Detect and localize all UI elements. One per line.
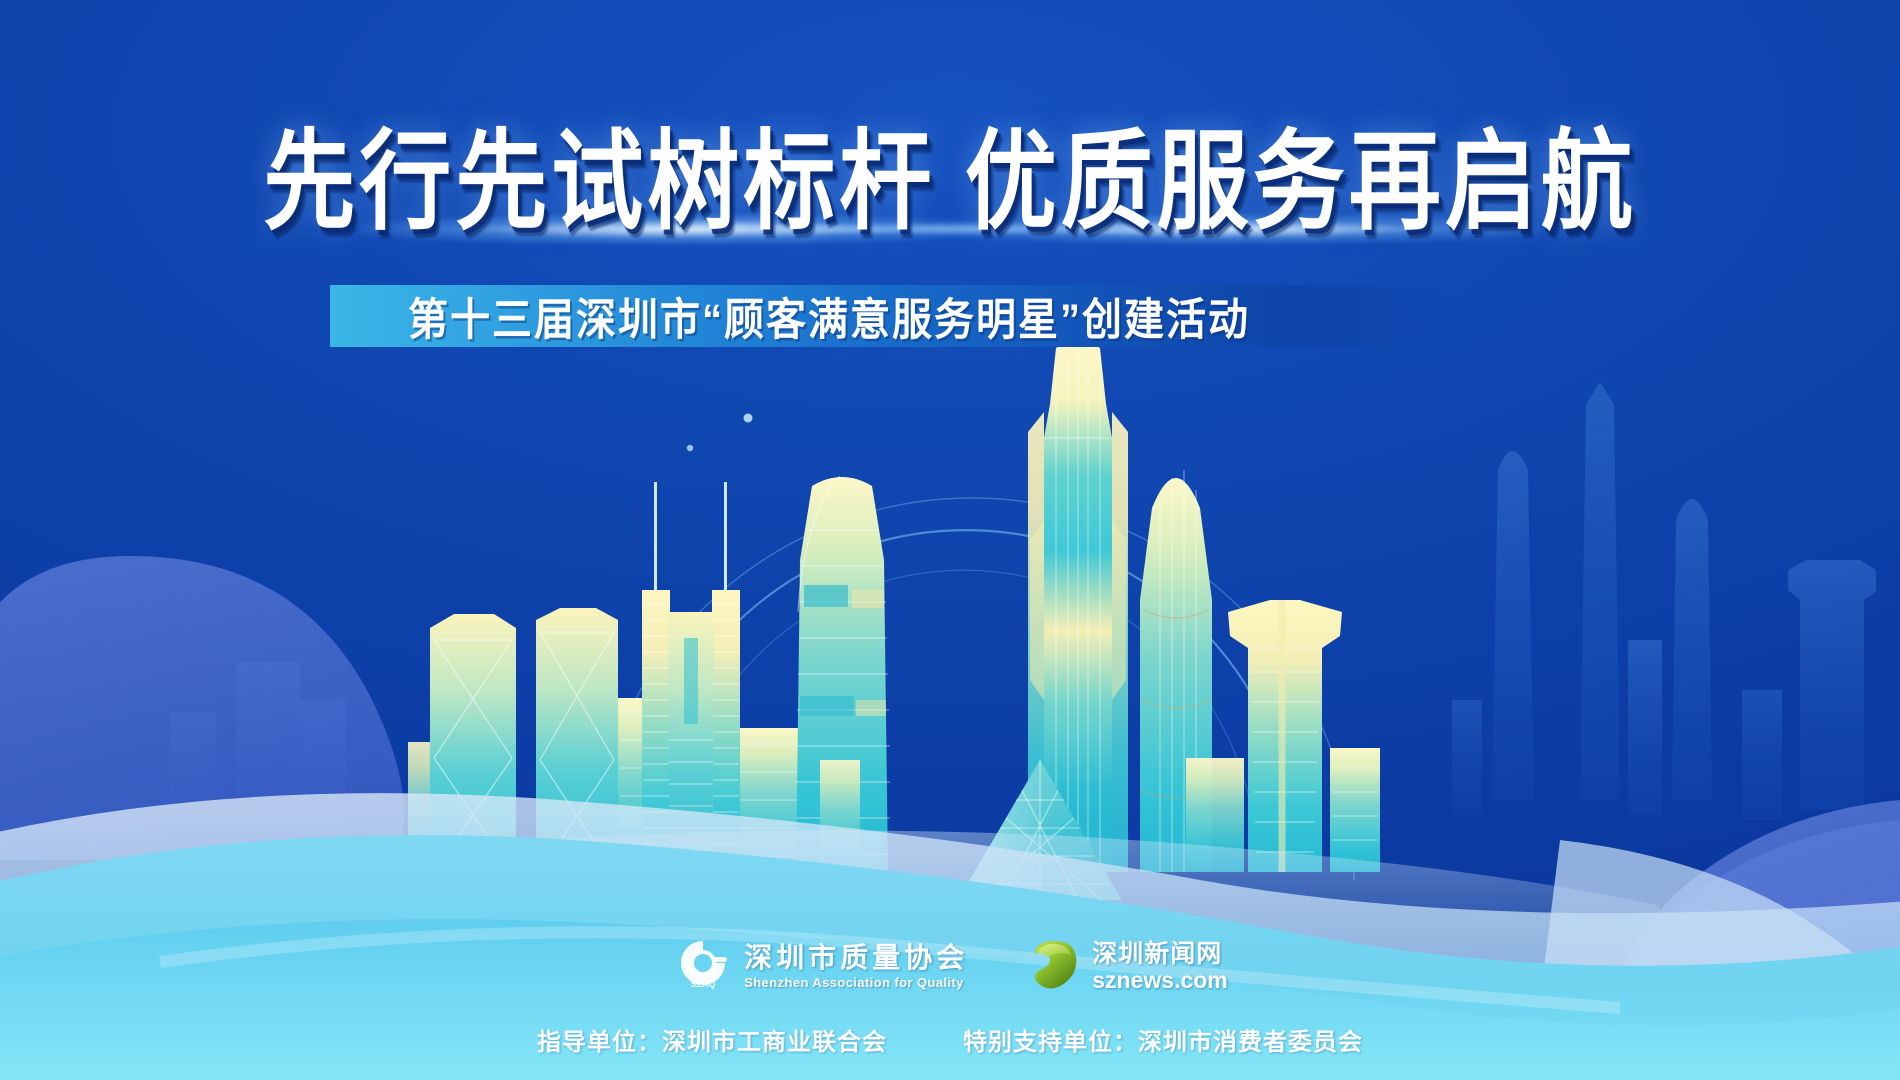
flared-crown-tower xyxy=(1228,600,1342,872)
pyramid-building xyxy=(958,760,1122,900)
wave-blob-right xyxy=(1588,800,1900,1060)
subtitle-text: 第十三届深圳市“顾客满意服务明星”创建活动 xyxy=(330,284,1250,348)
main-skyline xyxy=(408,336,1380,900)
twin-antenna-towers xyxy=(642,482,740,872)
footer-guiding-unit: 指导单位：深圳市工商业联合会 xyxy=(537,1022,887,1057)
wave-blob-left xyxy=(0,556,404,860)
saq-name-cn: 深圳市质量协会 xyxy=(744,944,968,972)
main-title: 先行先试树标杆 优质服务再启航 xyxy=(263,126,1637,240)
ping-an-tower xyxy=(1028,336,1128,872)
wave-layers xyxy=(0,556,1900,1080)
main-title-block: 先行先试树标杆 优质服务再启航 xyxy=(0,126,1900,223)
svg-text:SZAQ: SZAQ xyxy=(691,979,716,989)
saq-ring-icon: SZAQ xyxy=(672,935,734,998)
poster-canvas: 先行先试树标杆 优质服务再启航 第十三届深圳市“顾客满意服务明星”创建活动 SZ… xyxy=(0,0,1900,1080)
decorative-arcs xyxy=(590,414,1354,881)
logo-sznews[interactable]: 深圳新闻网 sznews.com xyxy=(1026,937,1228,996)
kk100-tower xyxy=(796,476,890,872)
bullet-tower xyxy=(1140,470,1212,872)
far-skyline-left xyxy=(170,662,346,832)
sznews-leaf-icon xyxy=(1026,937,1082,996)
far-skyline-right xyxy=(1452,382,1876,820)
saq-name-en: Shenzhen Association for Quality xyxy=(744,976,968,989)
sznews-name-cn: 深圳新闻网 xyxy=(1092,942,1228,967)
subtitle-banner: 第十三届深圳市“顾客满意服务明星”创建活动 xyxy=(330,285,1450,347)
footer-row: 指导单位：深圳市工商业联合会 特别支持单位：深圳市消费者委员会 xyxy=(0,1022,1900,1057)
footer-special-support-unit: 特别支持单位：深圳市消费者委员会 xyxy=(963,1022,1363,1057)
logo-shenzhen-association-for-quality[interactable]: SZAQ 深圳市质量协会 Shenzhen Association for Qu… xyxy=(672,935,968,998)
sznews-name-en: sznews.com xyxy=(1092,969,1228,992)
logo-row: SZAQ 深圳市质量协会 Shenzhen Association for Qu… xyxy=(0,935,1900,998)
